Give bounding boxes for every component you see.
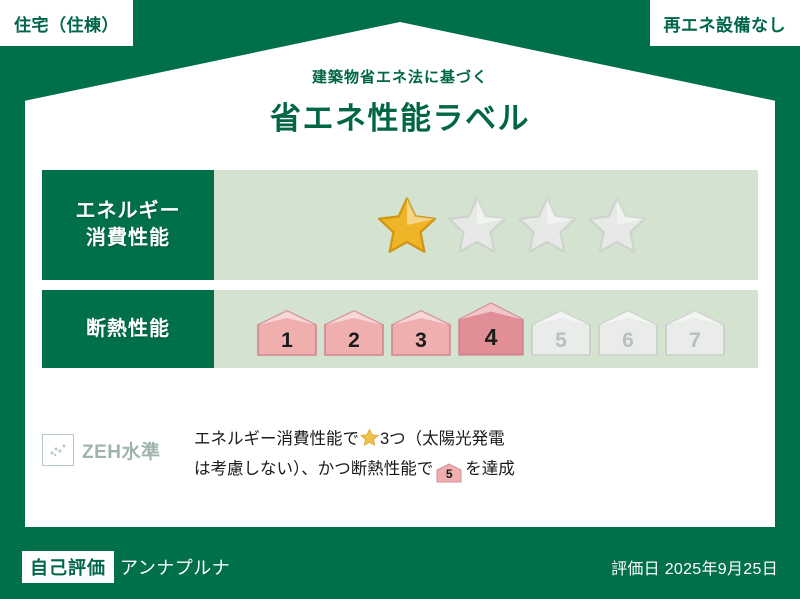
insulation-grade-value: 2	[348, 330, 360, 357]
insulation-grade-value: 5	[555, 330, 567, 357]
insulation-grade-value: 4	[485, 326, 498, 357]
energy-performance-label: 住宅（住棟） 再エネ設備なし 建築物省エネ法に基づく 省エネ性能ラベル ハウスマ…	[0, 0, 800, 599]
zeh-badge: ZEH水準	[42, 420, 194, 466]
insulation-heading-line1: 断熱性能	[86, 316, 170, 343]
insulation-performance-heading: 断熱性能	[42, 290, 214, 368]
zeh-desc-part2: は考慮しない）、かつ断熱性能で	[194, 460, 433, 478]
zeh-description: エネルギー消費性能で 3つ（太陽光発電 は考慮しない）、かつ断熱性能で 5 を達…	[194, 420, 758, 483]
zeh-desc-star-count: 3つ（太陽光発電	[380, 430, 505, 448]
zeh-standard-block: ZEH水準 エネルギー消費性能で 3つ（太陽光発電 は考慮しない）、かつ断熱性能…	[42, 420, 758, 483]
star-empty-icon	[446, 195, 508, 255]
insulation-grade-value: 1	[281, 330, 293, 357]
energy-performance-heading: エネルギー 消費性能	[42, 170, 214, 280]
label-footer: 自己評価 アンナプルナ 評価日 2025年9月25日	[0, 539, 800, 599]
zeh-desc-part3: を達成	[465, 460, 515, 478]
star-empty-icon	[516, 195, 578, 255]
energy-heading-line2: 消費性能	[86, 225, 170, 252]
insulation-grade-4: 4	[457, 301, 525, 357]
insulation-grade-5: 5	[530, 309, 592, 357]
insulation-grade-2: 2	[323, 309, 385, 357]
star-filled-icon	[376, 195, 438, 255]
star-rating	[376, 195, 648, 255]
insulation-grade-scale: 1234567	[256, 301, 726, 357]
insulation-performance-value: 1234567	[214, 290, 758, 368]
inline-grade-value: 5	[436, 463, 462, 485]
insulation-grade-value: 6	[622, 330, 634, 357]
label-title-block: 建築物省エネ法に基づく 省エネ性能ラベル	[0, 66, 800, 138]
self-evaluation-badge: 自己評価	[22, 551, 114, 583]
energy-performance-row: エネルギー 消費性能	[42, 170, 758, 280]
building-type-tag: 住宅（住棟）	[0, 0, 133, 46]
star-empty-icon	[586, 195, 648, 255]
owner-name: アンナプルナ	[120, 551, 230, 583]
insulation-grade-value: 7	[689, 330, 701, 357]
insulation-grade-7: 7	[664, 309, 726, 357]
insulation-grade-1: 1	[256, 309, 318, 357]
inline-grade-house-icon: 5	[436, 463, 462, 483]
energy-performance-value	[214, 170, 758, 280]
title-subtitle: 建築物省エネ法に基づく	[0, 66, 800, 87]
insulation-performance-row: 断熱性能 1234567	[42, 290, 758, 368]
insulation-grade-3: 3	[390, 309, 452, 357]
insulation-grade-6: 6	[597, 309, 659, 357]
page-title: 省エネ性能ラベル	[0, 93, 800, 138]
renewable-energy-tag: 再エネ設備なし	[650, 0, 800, 46]
zeh-desc-part1: エネルギー消費性能で	[194, 430, 359, 448]
evaluation-date: 評価日 2025年9月25日	[611, 551, 778, 583]
inline-star-icon	[360, 428, 379, 456]
zeh-dots-icon	[42, 434, 74, 466]
insulation-grade-value: 3	[415, 330, 427, 357]
energy-heading-line1: エネルギー	[76, 198, 181, 225]
zeh-label: ZEH水準	[82, 437, 161, 464]
